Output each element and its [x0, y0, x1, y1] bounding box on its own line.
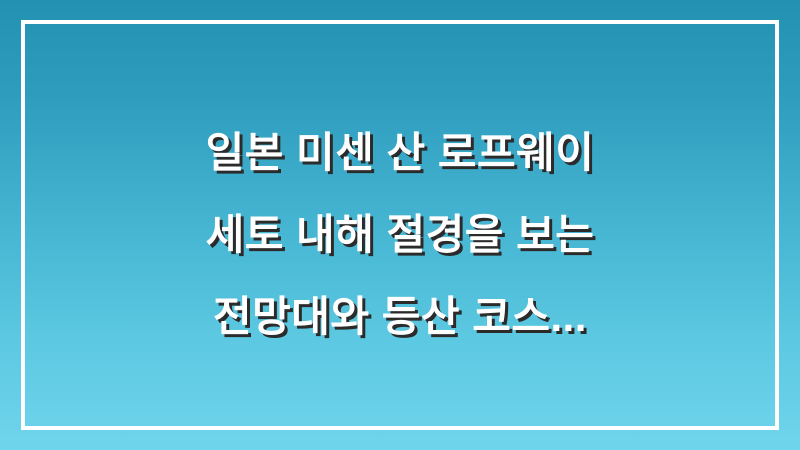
title-card: 일본 미센 산 로프웨이 세토 내해 절경을 보는 전망대와 등산 코스...: [0, 0, 800, 450]
title-line-1: 일본 미센 산 로프웨이: [0, 112, 800, 194]
title-line-2: 세토 내해 절경을 보는: [0, 194, 800, 276]
title-line-3: 전망대와 등산 코스...: [0, 276, 800, 358]
title-text-block: 일본 미센 산 로프웨이 세토 내해 절경을 보는 전망대와 등산 코스...: [0, 0, 800, 358]
